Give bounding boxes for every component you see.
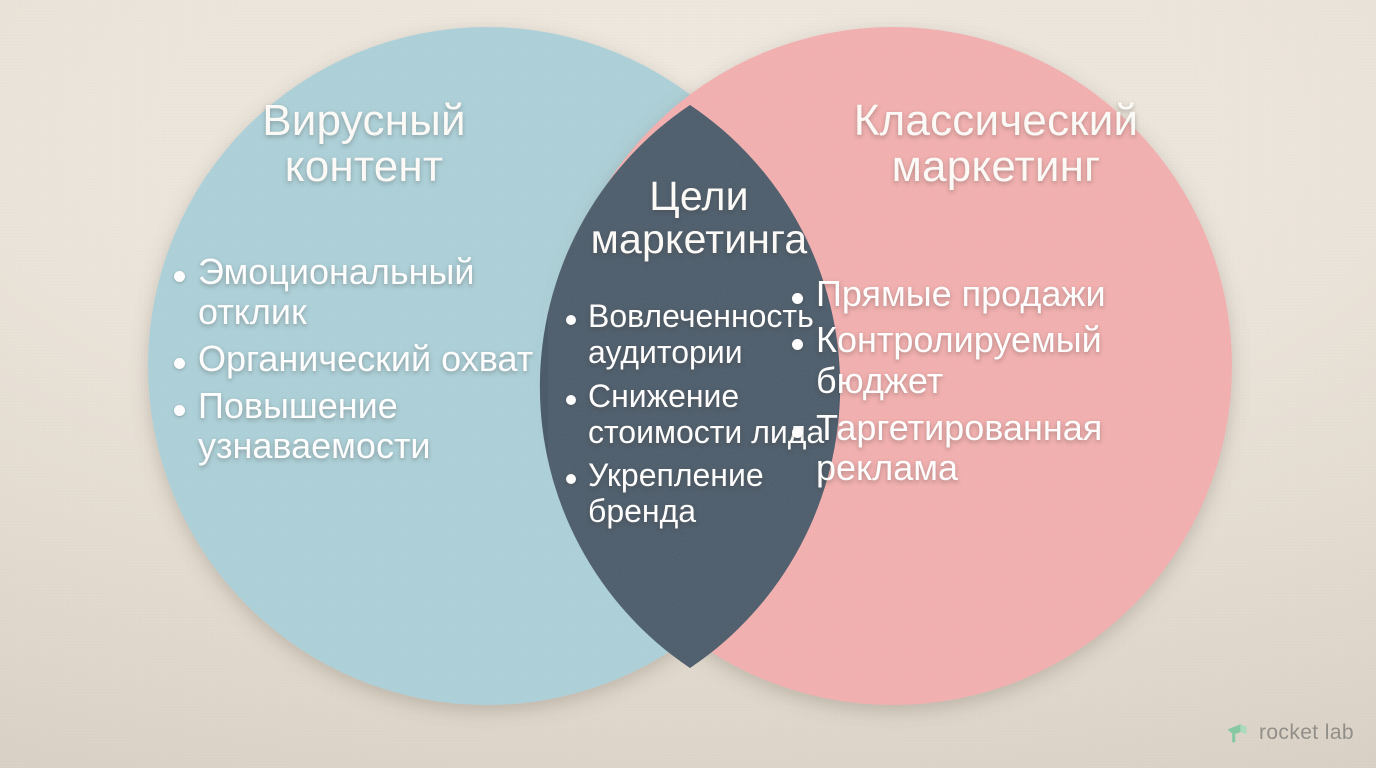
rocket-lab-logo: rocket lab — [1224, 720, 1354, 746]
list-item: Таргетированная реклама — [786, 408, 1206, 489]
left-set-bullet-list: Эмоциональный отклик Органический охват … — [168, 252, 568, 467]
left-set-title-line1: Вирусный — [168, 98, 560, 144]
right-set-title-line1: Классический — [786, 98, 1206, 144]
right-set-content: Классический маркетинг Прямые продажи Ко… — [786, 98, 1206, 495]
left-set-title: Вирусный контент — [168, 98, 560, 190]
right-set-bullet-list: Прямые продажи Контролируемый бюджет Тар… — [786, 274, 1206, 489]
rocket-lab-logo-text: rocket lab — [1259, 721, 1354, 745]
left-set-title-line2: контент — [168, 144, 560, 190]
right-set-title: Классический маркетинг — [786, 98, 1206, 190]
list-item: Прямые продажи — [786, 274, 1206, 315]
list-item: Повышение узнаваемости — [168, 386, 568, 467]
slide-canvas: Вирусный контент Эмоциональный отклик Ор… — [0, 0, 1376, 768]
list-item: Органический охват — [168, 339, 568, 380]
rocket-lab-arrow-icon — [1224, 720, 1250, 746]
left-set-content: Вирусный контент Эмоциональный отклик Ор… — [168, 98, 568, 473]
list-item: Контролируемый бюджет — [786, 320, 1206, 401]
right-set-title-line2: маркетинг — [786, 144, 1206, 190]
list-item: Эмоциональный отклик — [168, 252, 568, 333]
